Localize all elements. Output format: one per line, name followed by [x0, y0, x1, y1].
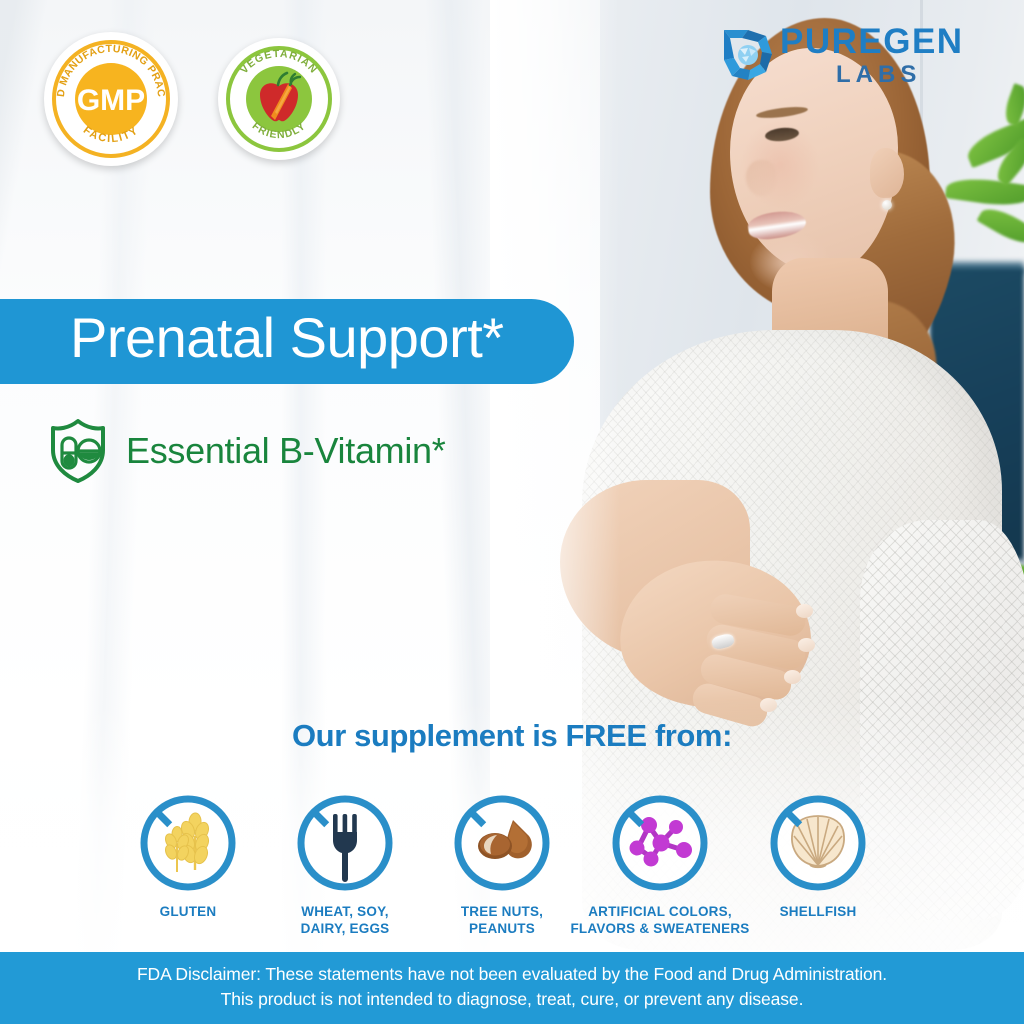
- fda-disclaimer-bar: FDA Disclaimer: These statements have no…: [0, 952, 1024, 1024]
- subtitle-text: Essential B-Vitamin*: [126, 430, 445, 472]
- shield-pills-icon: [48, 418, 108, 484]
- fingernail: [796, 604, 813, 618]
- vegetarian-badge: VEGETARIAN FRIENDLY: [218, 38, 340, 160]
- nose: [746, 160, 776, 196]
- free-from-label: ARTIFICIAL COLORS, FLAVORS & SWEATENERS: [555, 904, 765, 938]
- brand-logo[interactable]: PUREGEN LABS: [718, 22, 1008, 90]
- fork-no-icon: [290, 788, 400, 898]
- free-from-item-gluten[interactable]: GLUTEN: [108, 788, 268, 921]
- fingernail: [798, 638, 815, 652]
- puregen-p-mark-icon: [718, 24, 778, 86]
- vegetarian-friendly-seal-icon: VEGETARIAN FRIENDLY: [218, 38, 340, 160]
- product-marketing-image: GOOD MANUFACTURING PRACTICE FACILITY GMP…: [0, 0, 1024, 1024]
- free-from-item-shellfish[interactable]: SHELLFISH: [738, 788, 898, 921]
- tree-nuts-no-icon: [447, 788, 557, 898]
- brand-sub: LABS: [836, 63, 964, 87]
- free-from-item-wheat-soy-dairy-eggs[interactable]: WHEAT, SOY, DAIRY, EGGS: [265, 788, 425, 938]
- svg-text:GMP: GMP: [77, 84, 145, 117]
- ear: [870, 148, 904, 198]
- earring: [882, 200, 892, 210]
- fingernail: [784, 670, 801, 684]
- brand-name: PUREGEN: [780, 24, 964, 59]
- free-from-label: GLUTEN: [108, 904, 268, 921]
- page-title: Prenatal Support*: [70, 305, 504, 370]
- allergen-free-icon-row: GLUTEN WHEAT, SOY, DAIRY, EGGS: [0, 788, 1024, 938]
- molecule-no-icon: [605, 788, 715, 898]
- free-from-label: WHEAT, SOY, DAIRY, EGGS: [265, 904, 425, 938]
- gluten-icon-circle: [133, 788, 243, 898]
- fda-disclaimer-line1: FDA Disclaimer: These statements have no…: [137, 964, 887, 984]
- tree-nuts-icon-circle: [447, 788, 557, 898]
- gmp-badge: GOOD MANUFACTURING PRACTICE FACILITY GMP: [44, 32, 178, 166]
- shellfish-icon-circle: [763, 788, 873, 898]
- fda-disclaimer-line2: This product is not intended to diagnose…: [221, 989, 804, 1009]
- brand-wordmark: PUREGEN LABS: [780, 24, 964, 87]
- gmp-seal-icon: GOOD MANUFACTURING PRACTICE FACILITY GMP: [44, 32, 178, 166]
- molecule-icon-circle: [605, 788, 715, 898]
- free-from-heading: Our supplement is FREE from:: [0, 718, 1024, 754]
- fork-icon-circle: [290, 788, 400, 898]
- free-from-item-artificial-colors[interactable]: ARTIFICIAL COLORS, FLAVORS & SWEATENERS: [580, 788, 740, 938]
- scallop-shell-no-icon: [763, 788, 873, 898]
- free-from-label: SHELLFISH: [738, 904, 898, 921]
- subtitle-row: Essential B-Vitamin*: [48, 418, 445, 484]
- wheat-stalk-no-icon: [133, 788, 243, 898]
